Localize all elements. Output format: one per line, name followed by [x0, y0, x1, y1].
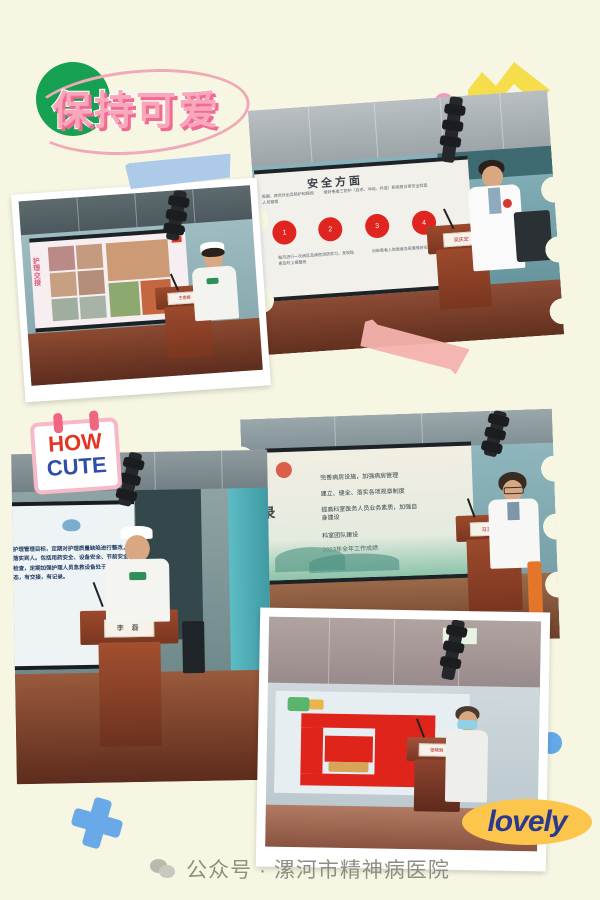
- slide-bullet-3: 提高科室医务人员业务素质，加强自身建设: [321, 503, 422, 523]
- page-title: 保持可爱: [52, 78, 220, 136]
- slide-number-2: 2: [317, 216, 343, 242]
- photo-safety-slide: 安全方面 吸烟、病员外出及陪护和探视人员管理 做好患者三防护（自杀、冲动、外逃）…: [248, 90, 564, 355]
- footer: 公众号 · 漯河市精神病医院: [0, 854, 600, 884]
- photo-nurse-collage-frame: 护理交接 王娜娜: [11, 178, 271, 403]
- footer-text: 公众号 · 漯河市精神病医院: [186, 854, 450, 884]
- photo-safety-slide-image: 安全方面 吸烟、病员外出及陪护和探视人员管理 做好患者三防护（自杀、冲动、外逃）…: [248, 90, 564, 355]
- slide-text-top-left: 吸烟、病员外出及陪护和探视人员管理: [262, 190, 315, 206]
- how-cute-sticker: HOW CUTE: [30, 417, 123, 495]
- slide-text-bottom-left: 每月进行一次病区及病房消防学习，发现隐患及时上报整改: [278, 250, 357, 267]
- photo-nurse-podium-image: 护理管理目标，定期对护理质量缺陷进行整改，落实到人。包括用药安全、设备安全、节前…: [11, 450, 273, 784]
- slide-bullet-1: 完善病房设施，加强病房管理: [320, 472, 398, 483]
- speaker-person: [102, 525, 172, 622]
- lovely-badge: lovely: [462, 793, 592, 853]
- slide-bullet-2: 建立、健全、落实各项规章制度: [321, 488, 405, 499]
- blue-cross: [66, 792, 128, 854]
- lovely-badge-label: lovely: [462, 799, 592, 845]
- clip-icon-right: [89, 410, 99, 431]
- slide-number-1: 1: [272, 220, 298, 246]
- speaker-person: [486, 471, 541, 569]
- wechat-icon: [150, 859, 176, 879]
- clip-icon-left: [53, 413, 63, 434]
- how-cute-line2: CUTE: [46, 452, 108, 481]
- poster-canvas: 保持可爱 安全方面 吸烟、病员外出及陪护和探视人员管理 做好患者三防护（自杀、冲…: [0, 0, 600, 900]
- photo-nurse-podium: 护理管理目标，定期对护理质量缺陷进行整改，落实到人。包括用药安全、设备安全、节前…: [11, 450, 273, 784]
- face-mask-icon: [457, 720, 477, 729]
- slide-number-3: 3: [364, 213, 390, 239]
- speaker-person: [444, 706, 490, 803]
- photo-nurse-collage-image: 护理交接 王娜娜: [19, 185, 263, 386]
- speaker-person: [188, 240, 241, 321]
- slide-side-title-collage: 护理交接: [33, 258, 45, 288]
- photo-nurse-collage: 护理交接 王娜娜: [19, 185, 263, 386]
